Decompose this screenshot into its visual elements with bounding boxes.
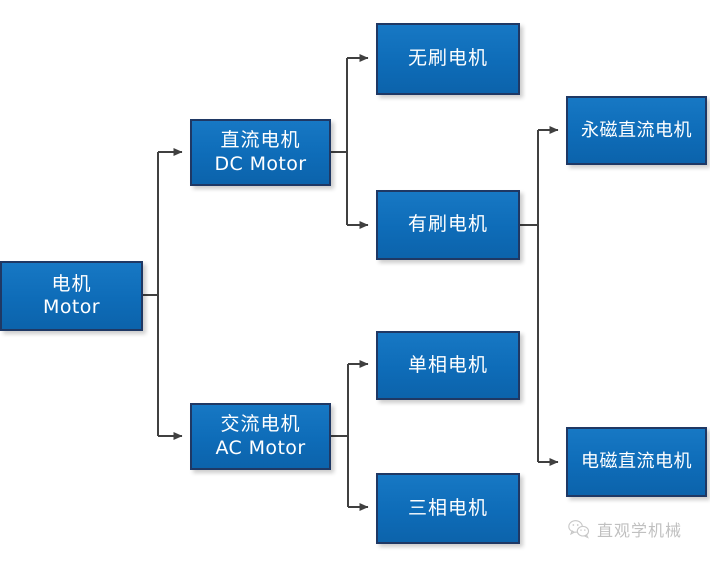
node-ac-motor-label-en: AC Motor [215,437,305,460]
edge-motor-to-dc-ac [143,152,182,436]
node-brushed-motor[interactable]: 有刷电机 [376,190,520,260]
node-motor-label-cn: 电机 [51,273,91,296]
node-motor[interactable]: 电机 Motor [0,261,143,331]
node-brushed-motor-label: 有刷电机 [408,213,488,236]
node-ac-motor[interactable]: 交流电机 AC Motor [190,403,331,470]
node-three-phase-motor-label: 三相电机 [408,497,488,520]
wechat-logo-icon [568,519,590,539]
edge-ac-to-children [331,364,368,507]
node-permanent-magnet-dc-motor[interactable]: 永磁直流电机 [566,96,707,165]
node-ac-motor-label-cn: 交流电机 [220,413,300,436]
node-dc-motor[interactable]: 直流电机 DC Motor [190,119,331,186]
watermark-text: 直观学机械 [597,517,682,541]
node-three-phase-motor[interactable]: 三相电机 [376,473,520,544]
node-motor-label-en: Motor [43,296,100,319]
edge-dc-to-children [331,58,368,225]
edge-brushed-to-children [520,130,558,462]
node-electromagnetic-dc-motor[interactable]: 电磁直流电机 [566,427,707,497]
node-electromagnetic-dc-motor-label: 电磁直流电机 [581,451,692,473]
diagram-canvas: 电机 Motor 直流电机 DC Motor 交流电机 AC Motor 无刷电… [0,0,710,562]
watermark: 直观学机械 [568,517,682,541]
node-dc-motor-label-en: DC Motor [214,153,306,176]
node-permanent-magnet-dc-motor-label: 永磁直流电机 [581,120,692,142]
node-single-phase-motor[interactable]: 单相电机 [376,331,520,400]
node-single-phase-motor-label: 单相电机 [408,354,488,377]
node-dc-motor-label-cn: 直流电机 [220,129,300,152]
node-brushless-motor[interactable]: 无刷电机 [376,23,520,95]
node-brushless-motor-label: 无刷电机 [408,47,488,70]
